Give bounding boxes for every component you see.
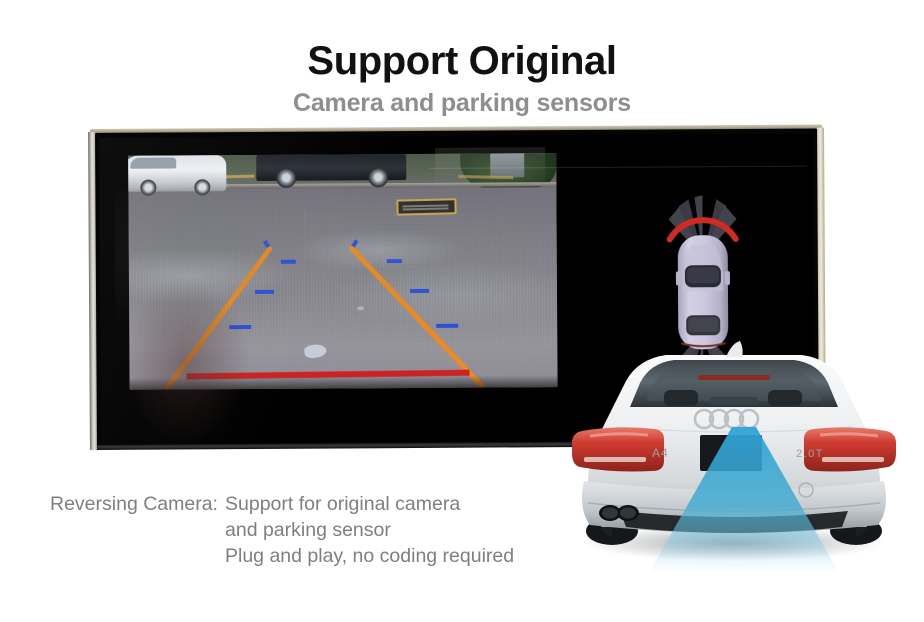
caption-line: Support for original camera	[225, 491, 514, 517]
model-badge: A4	[652, 446, 669, 460]
high-mount-brake-light	[698, 375, 770, 380]
engine-badge: 2.0T	[796, 448, 824, 460]
caption-label: Reversing Camera:	[50, 491, 218, 517]
screen-reflection	[435, 147, 545, 192]
caption-body: Support for original camera and parking …	[225, 491, 514, 569]
shark-fin-antenna	[726, 341, 743, 357]
vehicle-top-view	[676, 235, 731, 349]
audi-a4-rear: A4 2.0T	[560, 335, 908, 585]
guide-line-right	[352, 248, 482, 387]
page-title: Support Original	[0, 38, 924, 84]
screen-reflection	[120, 277, 251, 444]
caption-line: Plug and play, no coding required	[225, 543, 514, 569]
caption-line: and parking sensor	[225, 517, 514, 543]
header: Support Original Camera and parking sens…	[0, 0, 924, 118]
page-subtitle: Camera and parking sensors	[0, 88, 924, 118]
product-feature-slide: Support Original Camera and parking sens…	[0, 0, 924, 622]
